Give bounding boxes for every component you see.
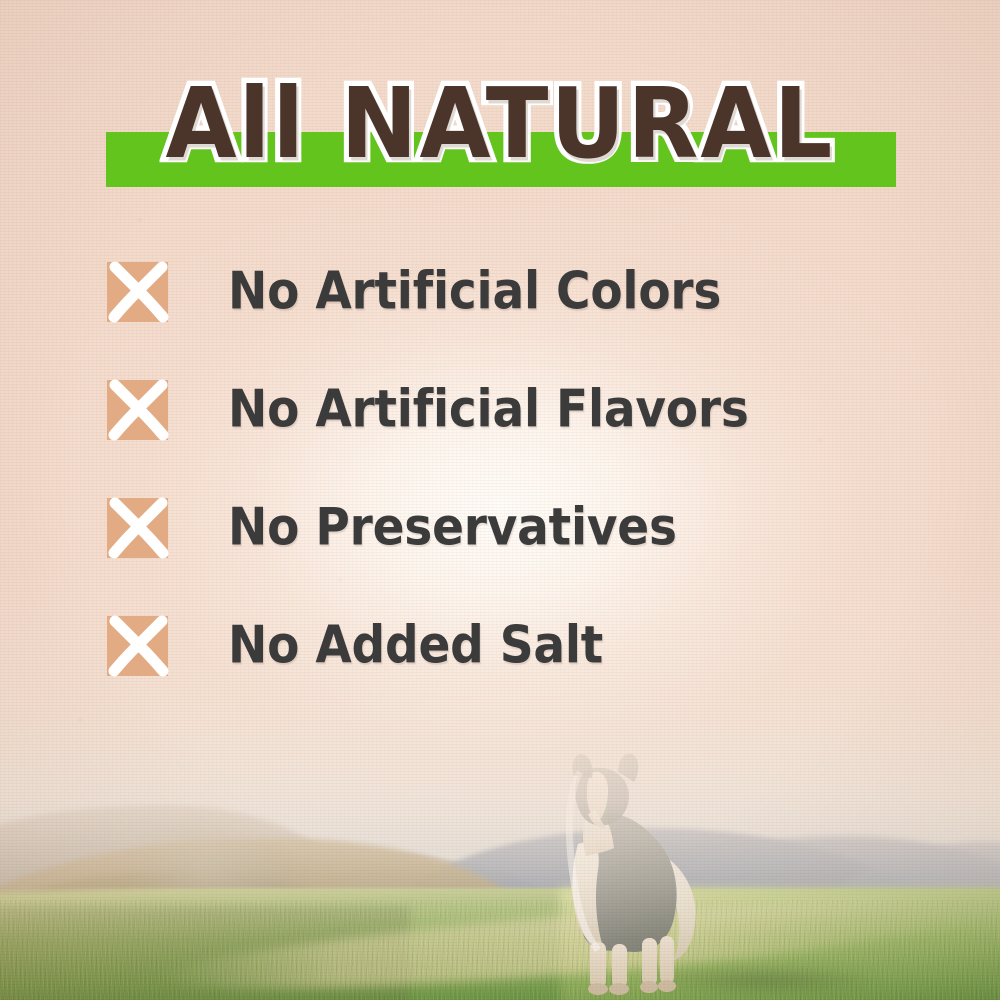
list-item-label: No Added Salt [228,613,603,679]
list-item: No Artificial Colors [107,262,937,322]
x-mark-icon [107,262,168,322]
list-item: No Preservatives [107,498,937,558]
x-mark-icon [107,498,168,558]
list-item: No Artificial Flavors [107,380,937,440]
list-item-label: No Artificial Colors [228,259,721,325]
list-item: No Added Salt [107,616,937,676]
list-item-label: No Preservatives [228,495,677,561]
headline-block: All NATURAL [0,66,1000,196]
poster-content: All NATURAL No Artificial Colors [0,0,1000,1000]
list-item-label: No Artificial Flavors [228,377,749,443]
all-natural-feature-poster: All NATURAL No Artificial Colors [0,0,1000,1000]
feature-list: No Artificial Colors No Artificial Flavo… [107,262,937,676]
page-title: All NATURAL [0,66,1000,184]
x-mark-icon [107,616,168,676]
x-mark-icon [107,380,168,440]
